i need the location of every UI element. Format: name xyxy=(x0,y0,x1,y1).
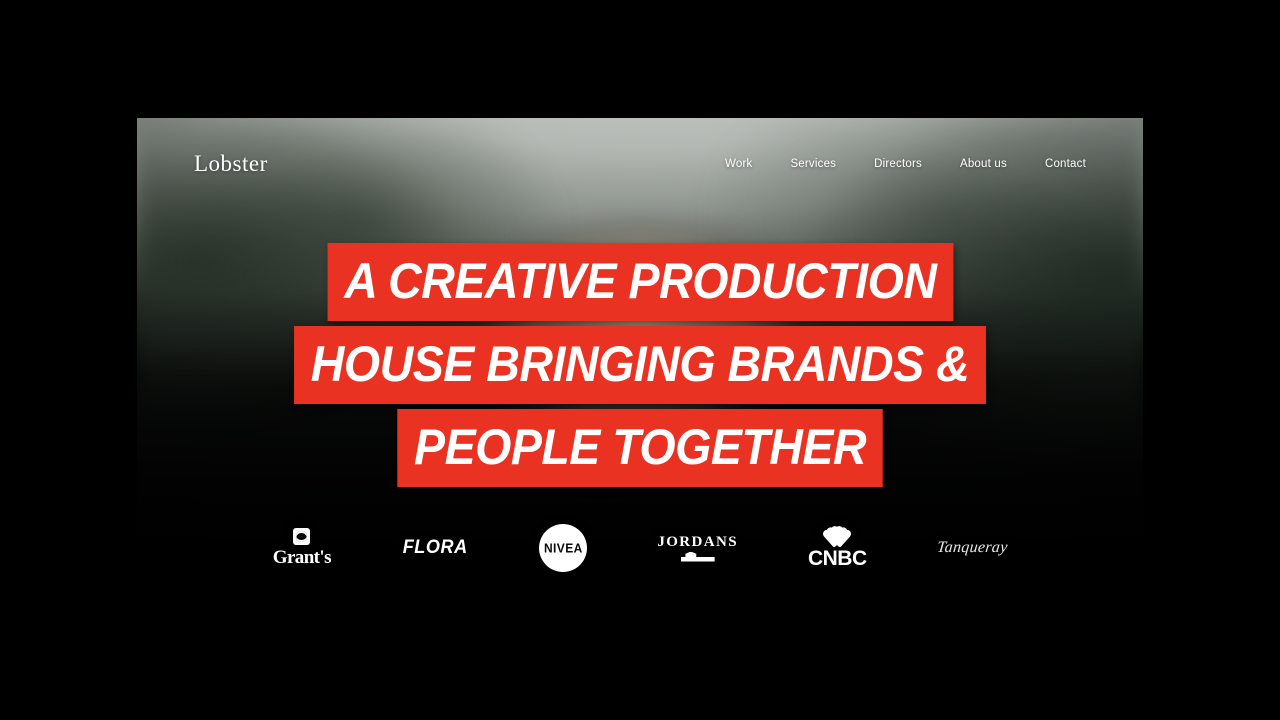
jordans-mill-icon xyxy=(681,552,715,562)
site-header: Lobster Work Services Directors About us… xyxy=(137,118,1143,210)
video-hero-viewport: Lobster Work Services Directors About us… xyxy=(137,118,1143,601)
client-logo-nivea[interactable]: NIVEA xyxy=(539,520,587,576)
client-logo-grants[interactable]: Grant's xyxy=(273,520,331,576)
client-logo-cnbc[interactable]: CNBC xyxy=(808,520,867,576)
headline-line-1: A CREATIVE PRODUCTION xyxy=(327,243,953,321)
cnbc-wordmark: CNBC xyxy=(808,547,867,571)
site-logo[interactable]: Lobster xyxy=(194,151,268,177)
grants-wordmark: Grant's xyxy=(273,547,331,569)
hero-headline: A CREATIVE PRODUCTION HOUSE BRINGING BRA… xyxy=(137,243,1143,487)
jordans-wordmark: JORDANS xyxy=(657,535,738,550)
client-logo-strip: Grant's FLORA NIVEA JORDANS CNBC Tanquer… xyxy=(137,513,1143,583)
client-logo-tanqueray[interactable]: Tanqueray xyxy=(937,520,1008,576)
nav-item-about-us[interactable]: About us xyxy=(960,158,1007,170)
client-logo-flora[interactable]: FLORA xyxy=(401,520,469,576)
main-navigation: Work Services Directors About us Contact xyxy=(725,158,1086,170)
nivea-circle-icon: NIVEA xyxy=(539,524,587,572)
cnbc-peacock-icon xyxy=(820,525,854,545)
nav-item-work[interactable]: Work xyxy=(725,158,752,170)
flora-wordmark-icon: FLORA xyxy=(403,537,468,559)
nav-item-contact[interactable]: Contact xyxy=(1045,158,1086,170)
client-logo-jordans[interactable]: JORDANS xyxy=(657,520,738,576)
nav-item-services[interactable]: Services xyxy=(790,158,836,170)
nivea-wordmark: NIVEA xyxy=(544,540,583,555)
headline-line-2: HOUSE BRINGING BRANDS & xyxy=(294,326,986,404)
tanqueray-script-icon: Tanqueray xyxy=(936,539,1008,557)
grants-crest-icon xyxy=(293,528,310,545)
headline-line-3: PEOPLE TOGETHER xyxy=(397,409,883,487)
nav-item-directors[interactable]: Directors xyxy=(874,158,922,170)
